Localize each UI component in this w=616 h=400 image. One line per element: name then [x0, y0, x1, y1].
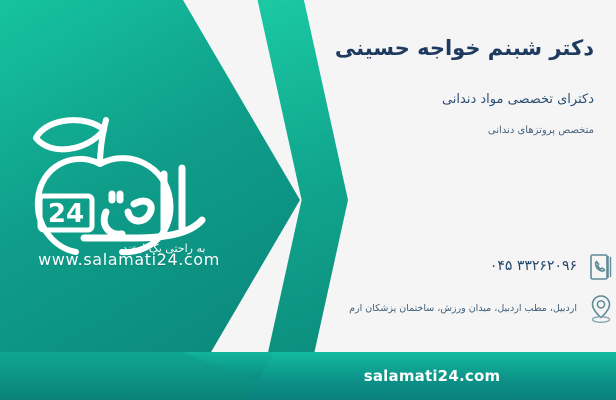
- phone-row[interactable]: ۳۳۲۶۲۰۹۶ ۰۴۵: [316, 250, 616, 284]
- clinic-address: اردبیل، مطب اردبیل، میدان ورزش، ساختمان …: [349, 302, 577, 315]
- footer-website: salamati24.com: [364, 367, 501, 385]
- phone-book-icon: [586, 250, 616, 284]
- phone-number: ۳۳۲۶۲۰۹۶ ۰۴۵: [490, 257, 577, 277]
- footer-bar-right[interactable]: salamati24.com: [248, 352, 616, 400]
- logo-website-url: www.salamati24.com: [14, 250, 244, 269]
- logo: 24 به راحتی یک لبخند www.salamati24.com: [14, 108, 244, 283]
- logo-24-badge: 24: [40, 196, 92, 230]
- doctor-name: دکتر شبنم خواجه حسینی: [316, 34, 594, 62]
- svg-text:24: 24: [48, 199, 84, 229]
- business-card: 24 به راحتی یک لبخند www.salamati24.com …: [0, 0, 616, 400]
- address-row[interactable]: اردبیل، مطب اردبیل، میدان ورزش، ساختمان …: [316, 292, 616, 326]
- map-pin-icon: [586, 292, 616, 326]
- salamati24-apple-logo-icon: 24 به راحتی یک لبخند: [14, 108, 244, 258]
- doctor-degree: دکترای تخصصی مواد دندانی: [316, 90, 594, 110]
- doctor-specialty: متخصص پروتزهای دندانی: [316, 123, 594, 138]
